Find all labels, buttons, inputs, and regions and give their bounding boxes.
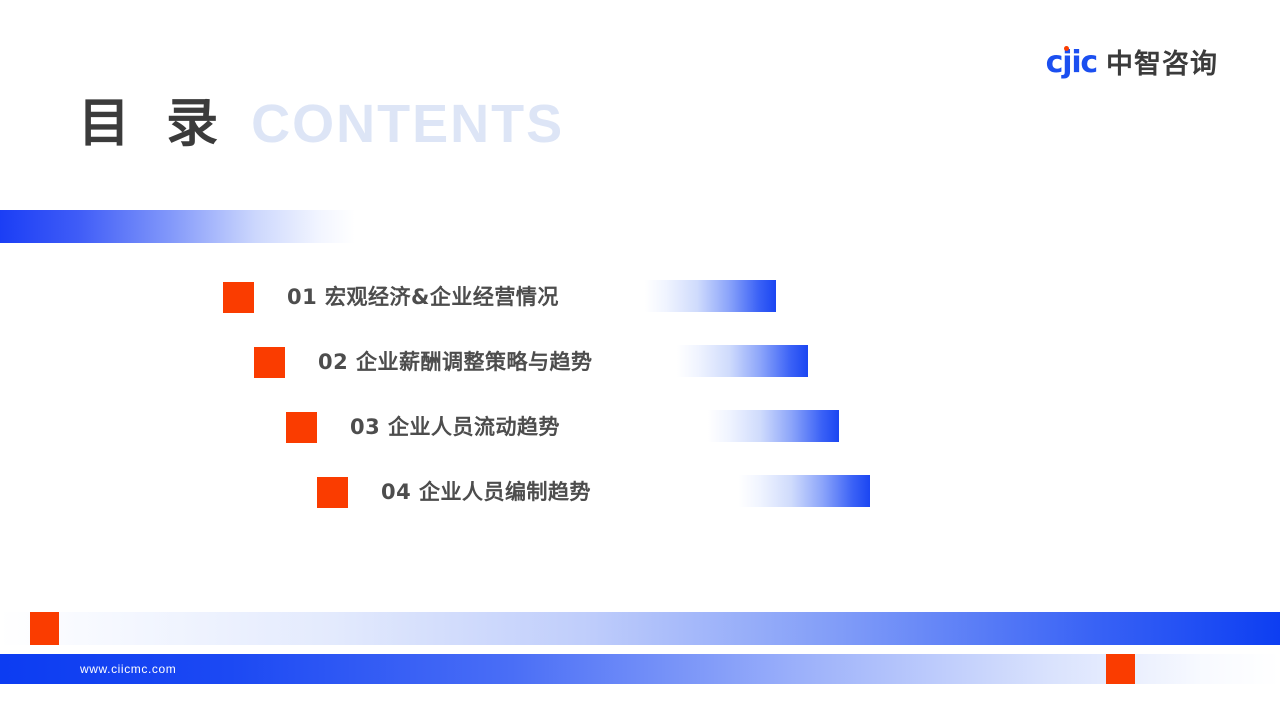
list-item-gradient-bar — [677, 345, 808, 377]
bullet-square-icon — [254, 347, 285, 378]
decorative-top-band — [0, 210, 355, 243]
footer-square-left-icon — [30, 612, 59, 645]
bullet-square-icon — [223, 282, 254, 313]
contents-list: 01 宏观经济&企业经营情况 02 企业薪酬调整策略与趋势 03 企业人员流动趋… — [0, 273, 1280, 533]
list-item-label: 01 宏观经济&企业经营情况 — [287, 281, 559, 313]
list-item-gradient-bar — [708, 410, 839, 442]
brand-orange-dot-icon — [1064, 46, 1069, 51]
list-item[interactable]: 04 企业人员编制趋势 — [0, 468, 1280, 533]
footer-website-url[interactable]: www.ciicmc.com — [80, 654, 176, 684]
footer-band-lower — [0, 654, 1280, 684]
list-item-gradient-bar — [739, 475, 870, 507]
list-item[interactable]: 02 企业薪酬调整策略与趋势 — [0, 338, 1280, 403]
brand-logo: cjic 中智咨询 — [1046, 48, 1218, 78]
list-item-label: 04 企业人员编制趋势 — [381, 476, 591, 508]
slide-canvas: cjic 中智咨询 目 录 CONTENTS 01 宏观经济&企业经营情况 02… — [0, 0, 1280, 720]
brand-wordmark: cjic — [1046, 48, 1097, 78]
page-title-en: CONTENTS — [251, 96, 564, 153]
footer-band-upper — [0, 612, 1280, 645]
list-item[interactable]: 03 企业人员流动趋势 — [0, 403, 1280, 468]
footer-square-right-icon — [1106, 654, 1135, 684]
list-item-label: 02 企业薪酬调整策略与趋势 — [318, 346, 593, 378]
list-item[interactable]: 01 宏观经济&企业经营情况 — [0, 273, 1280, 338]
bullet-square-icon — [317, 477, 348, 508]
list-item-label: 03 企业人员流动趋势 — [350, 411, 560, 443]
page-title: 目 录 CONTENTS — [78, 96, 564, 153]
bullet-square-icon — [286, 412, 317, 443]
list-item-gradient-bar — [645, 280, 776, 312]
brand-name-cn: 中智咨询 — [1106, 51, 1218, 78]
page-title-cn: 目 录 — [78, 97, 227, 152]
